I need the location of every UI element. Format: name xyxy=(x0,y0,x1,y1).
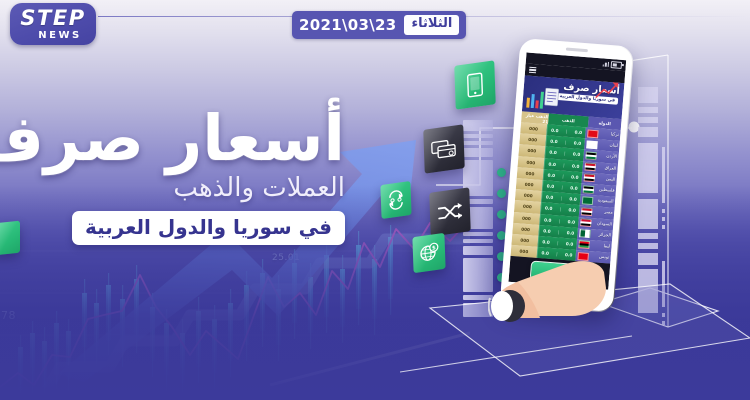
flag-icon xyxy=(577,252,589,261)
app-banner: أسعار صرف في سوريا والدول العربية xyxy=(522,75,625,119)
gold-buy-value: 0.0 xyxy=(567,230,575,236)
gold-sell-value: 0.0 xyxy=(543,228,551,234)
banner-chart-icons xyxy=(525,86,561,115)
date-value: 2021\03\23 xyxy=(299,16,396,34)
chart-y-axis-label: 78 xyxy=(1,309,16,322)
flag-icon xyxy=(582,196,594,205)
gold-buy-value: 0.0 xyxy=(573,152,581,158)
gold-sell-value: 0.0 xyxy=(551,128,559,134)
flag-icon xyxy=(579,229,591,238)
currency-exchange-icon[interactable] xyxy=(380,181,411,219)
cell-separator: | xyxy=(557,240,559,245)
headline-subtitle: العملات والذهب xyxy=(15,172,345,205)
flag-icon xyxy=(578,241,590,250)
credit-cards-icon[interactable] xyxy=(423,124,465,173)
search-button[interactable]: بحث xyxy=(530,260,589,284)
flag-icon xyxy=(584,163,596,172)
cell-separator: | xyxy=(562,173,564,178)
banner-canvas: 78 25.01 STEP NEWS 2021\03\23 الثلاثاء أ… xyxy=(0,0,750,400)
gold-buy-value: 0.0 xyxy=(566,241,574,247)
gold-buy-value: 0.0 xyxy=(574,130,582,136)
weekday-label: الثلاثاء xyxy=(404,15,459,34)
gold-buy-value: 0.0 xyxy=(567,219,575,225)
svg-text:$: $ xyxy=(432,245,436,252)
country-name: ليبيا xyxy=(603,244,610,249)
partial-edge-icon xyxy=(0,221,20,256)
gold-buy-value: 0.0 xyxy=(574,141,582,147)
cell-separator: | xyxy=(559,218,561,223)
gold-buy-value: 0.0 xyxy=(568,208,576,214)
flag-icon xyxy=(586,140,598,149)
gold-sell-value: 0.0 xyxy=(542,239,550,245)
cell-separator: | xyxy=(556,252,558,257)
page-title: أسعار صرف xyxy=(15,108,345,170)
shuffle-exchange-icon[interactable] xyxy=(429,187,471,236)
country-name: مصر xyxy=(604,210,613,216)
gold-sell-value: 0.0 xyxy=(547,183,555,189)
cell-separator: | xyxy=(560,207,562,212)
gold-sell-value: 0.0 xyxy=(548,161,556,167)
exchange-rates-table: الدولة الذهب الذهب عيار 21 تركيا0.0|0.00… xyxy=(510,111,622,275)
headline-region-badge: في سوريا والدول العربية xyxy=(72,211,345,245)
gold-sell-value: 0.0 xyxy=(549,150,557,156)
country-name: اليمن xyxy=(606,177,616,183)
globe-dollar-icon[interactable]: $ xyxy=(412,233,445,273)
cell-separator: | xyxy=(558,229,560,234)
gold-buy-value: 0.0 xyxy=(571,174,579,180)
flag-icon xyxy=(583,185,595,194)
cell-separator: | xyxy=(560,196,562,201)
country-name: الأردن xyxy=(606,155,617,161)
country-name: السودان xyxy=(597,221,612,227)
red-growth-arrow-icon xyxy=(594,79,622,105)
gold-buy-value: 0.0 xyxy=(569,196,577,202)
chart-annotation-label: 25.01 xyxy=(272,253,300,263)
smartphone-mockup: أسعار صرف في سوريا والدول العربية xyxy=(500,38,635,313)
logo-news-text: NEWS xyxy=(38,31,81,41)
mobile-icon[interactable] xyxy=(454,60,496,109)
phone-speaker xyxy=(566,48,588,53)
country-name: الجزائر xyxy=(598,232,611,238)
country-name: تركيا xyxy=(610,132,619,138)
step-news-logo[interactable]: STEP NEWS xyxy=(10,3,96,45)
flag-icon xyxy=(581,207,593,216)
country-name: السعودية xyxy=(597,199,613,205)
cell-separator: | xyxy=(563,162,565,167)
gold-sell-value: 0.0 xyxy=(541,250,549,256)
date-badge: 2021\03\23 الثلاثاء xyxy=(292,11,466,39)
logo-step-text: STEP xyxy=(20,8,85,29)
flag-icon xyxy=(587,129,599,138)
cell-separator: | xyxy=(561,185,563,190)
gold-sell-value: 0.0 xyxy=(545,206,553,212)
headline-block: أسعار صرف العملات والذهب في سوريا والدول… xyxy=(15,108,345,245)
cell-separator: | xyxy=(565,140,567,145)
country-name: فلسطين xyxy=(599,188,615,194)
country-name: تونس xyxy=(599,255,609,261)
gold-buy-value: 0.0 xyxy=(572,163,580,169)
signal-icon xyxy=(602,61,609,67)
hamburger-menu-icon[interactable] xyxy=(529,66,536,73)
flag-icon xyxy=(585,151,597,160)
flag-icon xyxy=(580,218,592,227)
battery-icon xyxy=(611,61,623,69)
gold-sell-value: 0.0 xyxy=(547,172,555,178)
table-body: تركيا0.0|0.0000لبنان0.0|0.0000الأردن0.0|… xyxy=(510,122,621,275)
gold-sell-value: 0.0 xyxy=(546,195,554,201)
gold-sell-value: 0.0 xyxy=(544,217,552,223)
country-name: لبنان xyxy=(609,144,618,150)
country-name: العراق xyxy=(605,166,617,172)
gold-buy-value: 0.0 xyxy=(570,185,578,191)
gold-buy-value: 0.0 xyxy=(565,252,573,258)
phone-home-indicator xyxy=(542,298,572,303)
cell-separator: | xyxy=(564,151,566,156)
gold-sell-value: 0.0 xyxy=(550,139,558,145)
cell-separator: | xyxy=(566,129,568,134)
phone-screen: أسعار صرف في سوريا والدول العربية xyxy=(508,52,626,289)
flag-icon xyxy=(583,174,595,183)
